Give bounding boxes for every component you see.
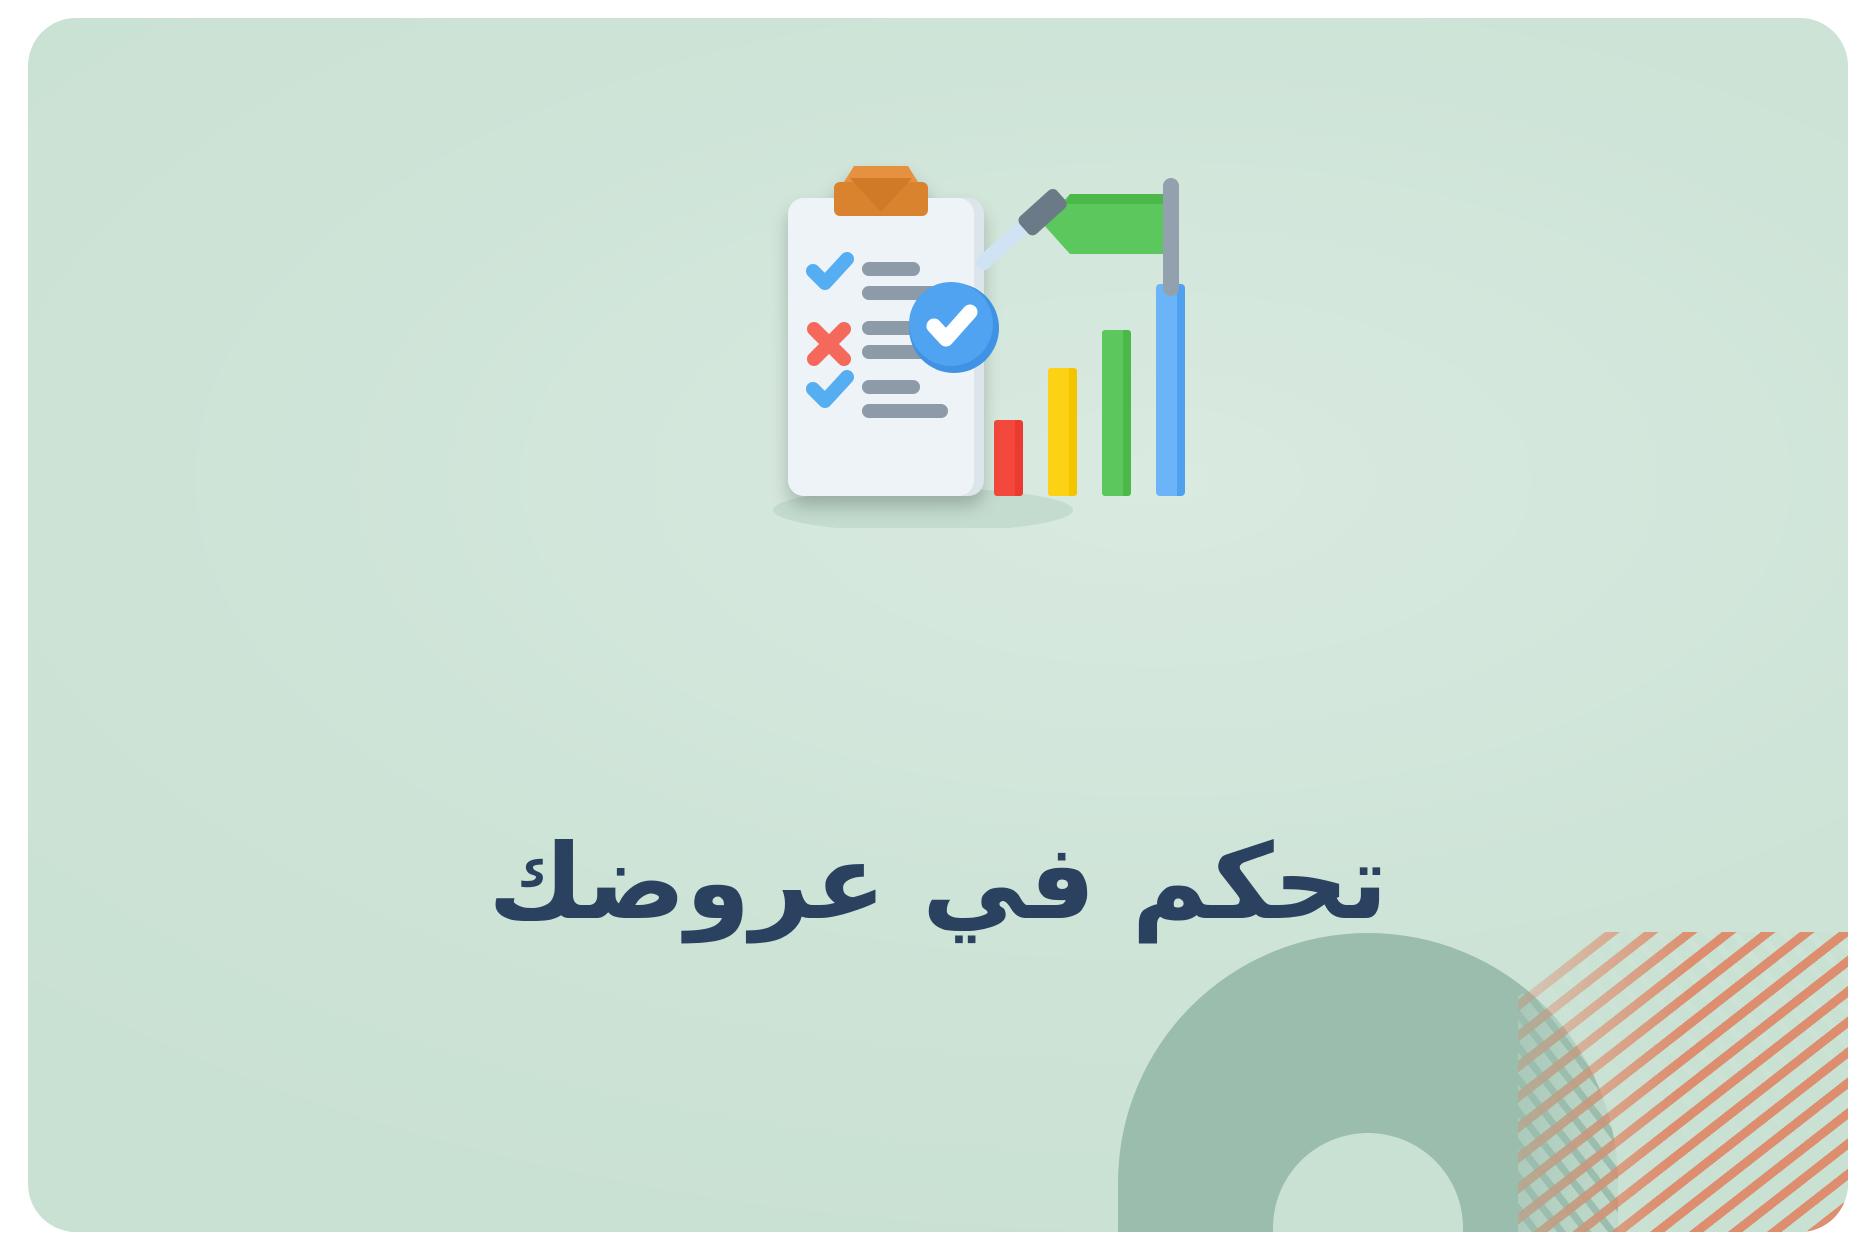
flag-banner-highlight: [1065, 194, 1163, 204]
flag-icon: [1043, 178, 1179, 296]
row-1-line-1: [862, 262, 920, 276]
clipboard-clip: [834, 166, 928, 216]
clipboard-chart-illustration: [758, 158, 1228, 528]
page-title: تحكم في عروضك: [28, 823, 1848, 943]
bar-4: [1156, 284, 1185, 496]
promo-card: تحكم في عروضك: [28, 18, 1848, 1232]
bar-3: [1102, 330, 1131, 496]
diagonal-dot-grid-pattern: [1518, 932, 1848, 1232]
row-3-line-2: [862, 404, 948, 418]
row-3-line-1: [862, 380, 920, 394]
bar-chart: [994, 284, 1185, 496]
bar-2: [1048, 368, 1077, 496]
screenshot-canvas: تحكم في عروضك: [0, 0, 1875, 1250]
diagonal-dot-grid: [1518, 932, 1848, 1232]
bar-1: [994, 420, 1023, 496]
flag-pole: [1163, 178, 1179, 296]
